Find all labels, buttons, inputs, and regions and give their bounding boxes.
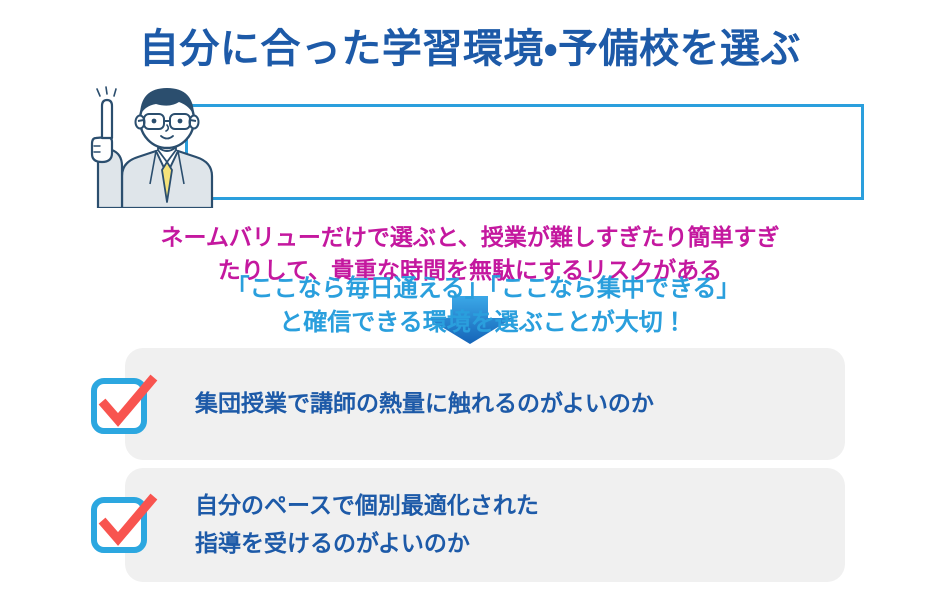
infographic-canvas: 自分に合った学習環境・予備校を選ぶ 「ここなら毎日通える」「ここなら集中できる」…	[0, 0, 940, 610]
highlight-line-2: と確信できる環境を選ぶことが大切！	[279, 306, 687, 338]
highlight-line-1: 「ここなら毎日通える」「ここなら集中できる」	[226, 272, 741, 304]
checked-checkbox-icon[interactable]	[88, 371, 158, 441]
checked-checkbox-icon[interactable]	[88, 490, 158, 560]
pointing-businessman-illustration	[78, 80, 238, 208]
